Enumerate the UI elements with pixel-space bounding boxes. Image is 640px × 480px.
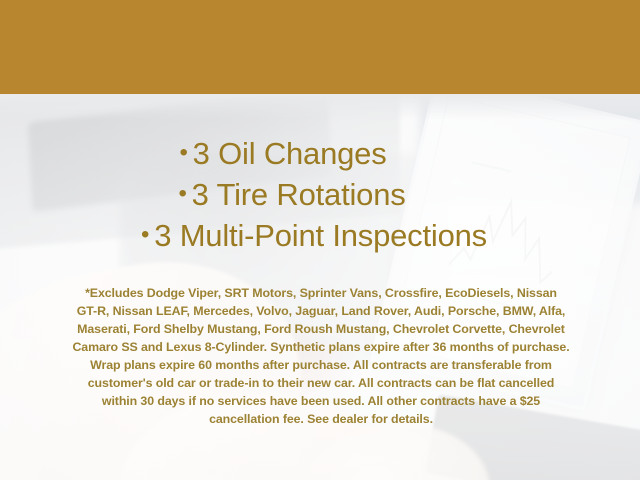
disclaimer-line: *Excludes Dodge Viper, SRT Motors, Sprin… [26,284,616,302]
bullet-icon: • [179,139,192,166]
disclaimer-line: cancellation fee. See dealer for details… [26,410,616,428]
benefits-list: •3 Oil Changes •3 Tire Rotations •3 Mult… [0,135,640,258]
bullet-icon: • [178,180,191,207]
disclaimer-line: GT-R, Nissan LEAF, Mercedes, Volvo, Jagu… [26,302,616,320]
extracare-package-promo-card: ExtraCare Package* •3 Oil Changes •3 Tir… [0,0,640,480]
disclaimer-fine-print: *Excludes Dodge Viper, SRT Motors, Sprin… [26,284,616,428]
disclaimer-line: Wrap plans expire 60 months after purcha… [26,356,616,374]
benefit-item-oil-changes: •3 Oil Changes [0,135,640,176]
benefit-item-label: 3 Oil Changes [193,136,387,171]
bullet-icon: • [141,221,154,248]
benefit-item-label: 3 Multi-Point Inspections [154,218,487,253]
benefit-item-multi-point-inspections: •3 Multi-Point Inspections [0,217,640,258]
disclaimer-line: Maserati, Ford Shelby Mustang, Ford Rous… [26,320,616,338]
disclaimer-line: Camaro SS and Lexus 8-Cylinder. Syntheti… [26,338,616,356]
benefit-item-label: 3 Tire Rotations [192,177,406,212]
background-top-fade [0,94,640,120]
benefit-item-tire-rotations: •3 Tire Rotations [0,176,640,217]
header-band [0,0,640,94]
disclaimer-line: customer's old car or trade-in to their … [26,374,616,392]
disclaimer-line: within 30 days if no services have been … [26,392,616,410]
